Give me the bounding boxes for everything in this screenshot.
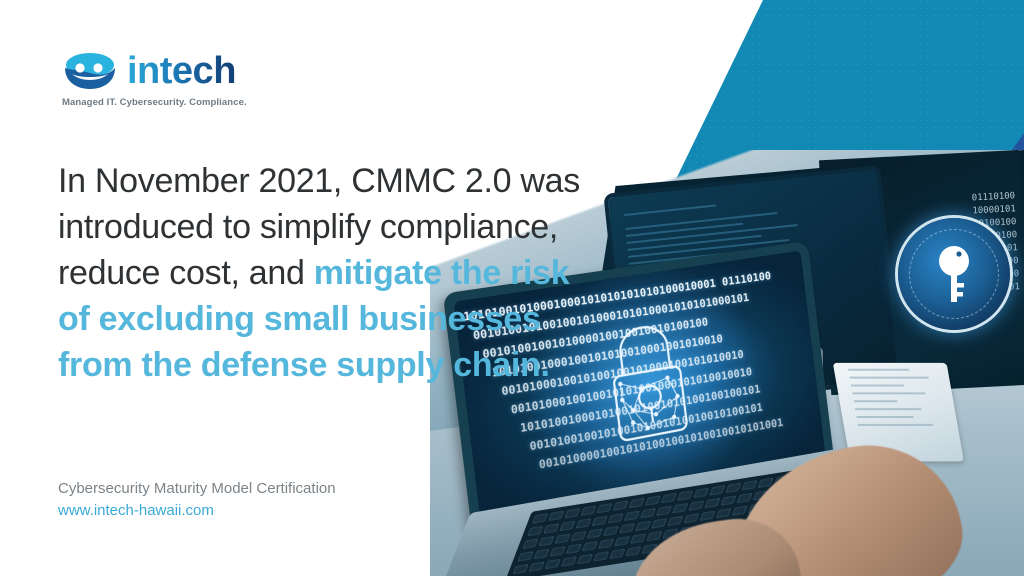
logo-row: intech [62,52,302,90]
logo-tagline: Managed IT. Cybersecurity. Compliance. [62,97,302,108]
headline: In November 2021, CMMC 2.0 was introduce… [58,158,606,388]
brand-logo[interactable]: intech Managed IT. Cybersecurity. Compli… [62,52,302,108]
slide-canvas: 01110100 10000101 10100100 11010100 1010… [0,0,1024,576]
footer: Cybersecurity Maturity Model Certificati… [58,478,336,522]
footer-subtitle: Cybersecurity Maturity Model Certificati… [58,478,336,500]
intech-circle-wave-icon [62,52,118,90]
key-icon [931,243,977,305]
logo-wordmark: intech [127,52,236,90]
key-badge [898,218,1010,330]
footer-website-link[interactable]: www.intech-hawaii.com [58,500,336,522]
